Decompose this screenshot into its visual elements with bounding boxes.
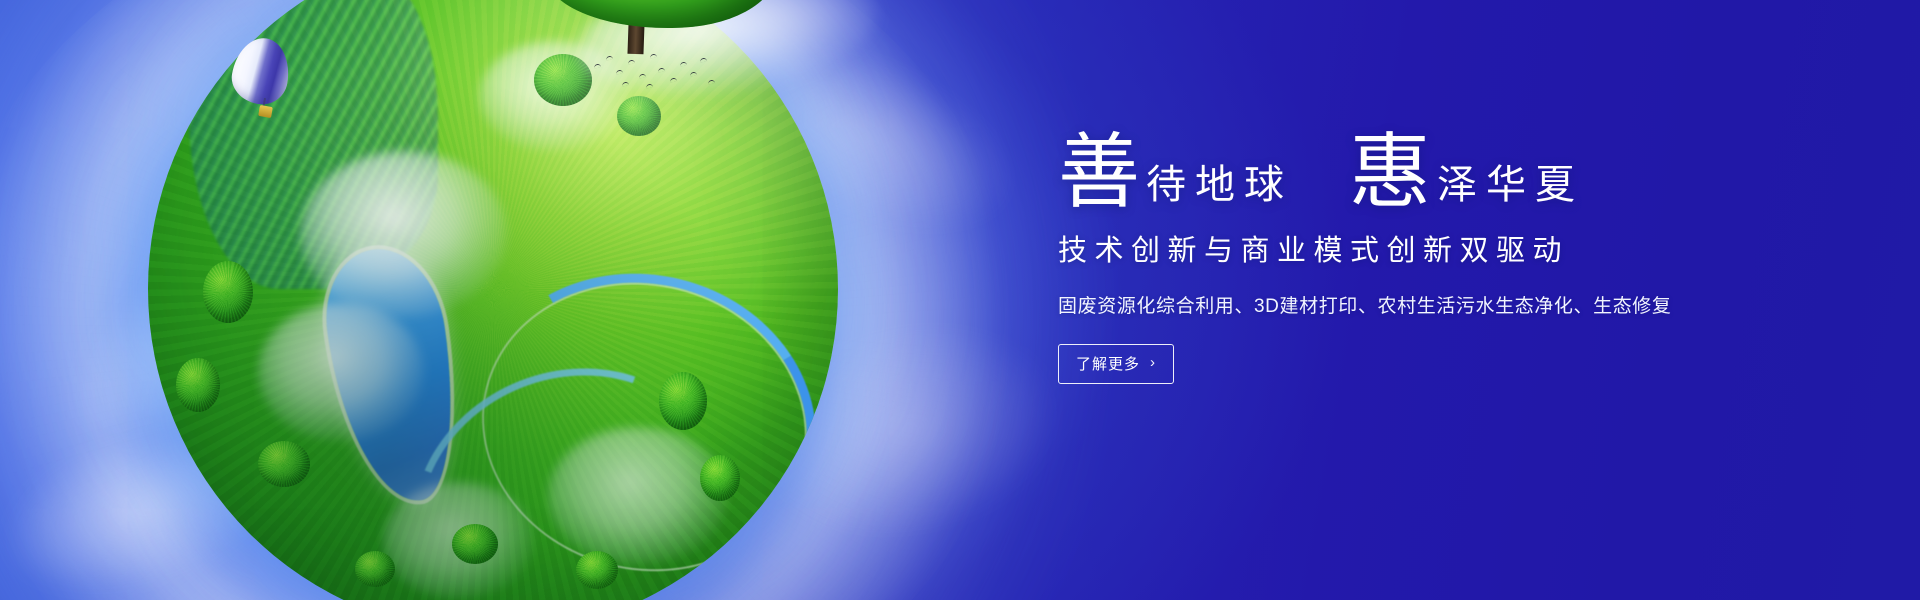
birds-flock	[592, 50, 722, 92]
bird-icon	[650, 54, 657, 59]
tree-canopy	[355, 551, 395, 587]
tree-canopy	[576, 551, 618, 589]
bird-icon	[690, 72, 697, 77]
balloon-envelope	[228, 34, 295, 109]
tree-canopy	[659, 372, 707, 430]
page-title: 善 待地球 惠 泽华夏	[1058, 128, 1678, 207]
learn-more-button[interactable]: 了解更多 ›	[1058, 344, 1174, 384]
bird-icon	[622, 82, 629, 87]
hero-subtitle: 技术创新与商业模式创新双驱动	[1058, 227, 1678, 269]
hero-description: 固废资源化综合利用、3D建材打印、农村生活污水生态净化、生态修复	[1058, 291, 1678, 318]
headline-text-zehuaxia: 泽华夏	[1431, 165, 1584, 205]
headline-char-shan: 善	[1058, 134, 1140, 213]
bird-icon	[628, 60, 635, 65]
bird-icon	[658, 68, 665, 73]
chevron-right-icon: ›	[1150, 355, 1156, 370]
mountain-ridge	[189, 0, 437, 289]
bird-icon	[700, 58, 707, 63]
cloud-patch	[383, 482, 535, 599]
tree-canopy	[176, 358, 220, 412]
tree-canopy	[258, 441, 310, 487]
learn-more-label: 了解更多	[1076, 353, 1140, 374]
bird-icon	[646, 84, 653, 89]
tree-canopy	[617, 96, 661, 136]
cloud-patch	[300, 151, 507, 317]
lake-water	[317, 241, 469, 510]
bird-icon	[594, 64, 601, 69]
hero-banner: 善 待地球 惠 泽华夏 技术创新与商业模式创新双驱动 固废资源化综合利用、3D建…	[0, 0, 1920, 600]
bird-icon	[616, 70, 623, 75]
hero-copy: 善 待地球 惠 泽华夏 技术创新与商业模式创新双驱动 固废资源化综合利用、3D建…	[1058, 128, 1678, 384]
tree-canopy	[203, 261, 253, 323]
river-water	[441, 238, 838, 600]
tree-canopy	[700, 455, 740, 501]
bird-icon	[680, 62, 687, 67]
bird-icon	[639, 74, 646, 79]
balloon-basket	[258, 105, 273, 118]
cloud-patch	[258, 303, 424, 441]
hot-air-balloon	[233, 38, 289, 124]
river-water-secondary	[368, 319, 770, 600]
bird-icon	[606, 56, 613, 61]
tree-canopy	[452, 524, 498, 564]
headline-text-daidiqiu: 待地球	[1140, 165, 1293, 205]
headline-char-hui: 惠	[1349, 134, 1431, 213]
bird-icon	[708, 80, 715, 85]
cloud-patch	[548, 427, 727, 565]
bird-icon	[670, 78, 677, 83]
